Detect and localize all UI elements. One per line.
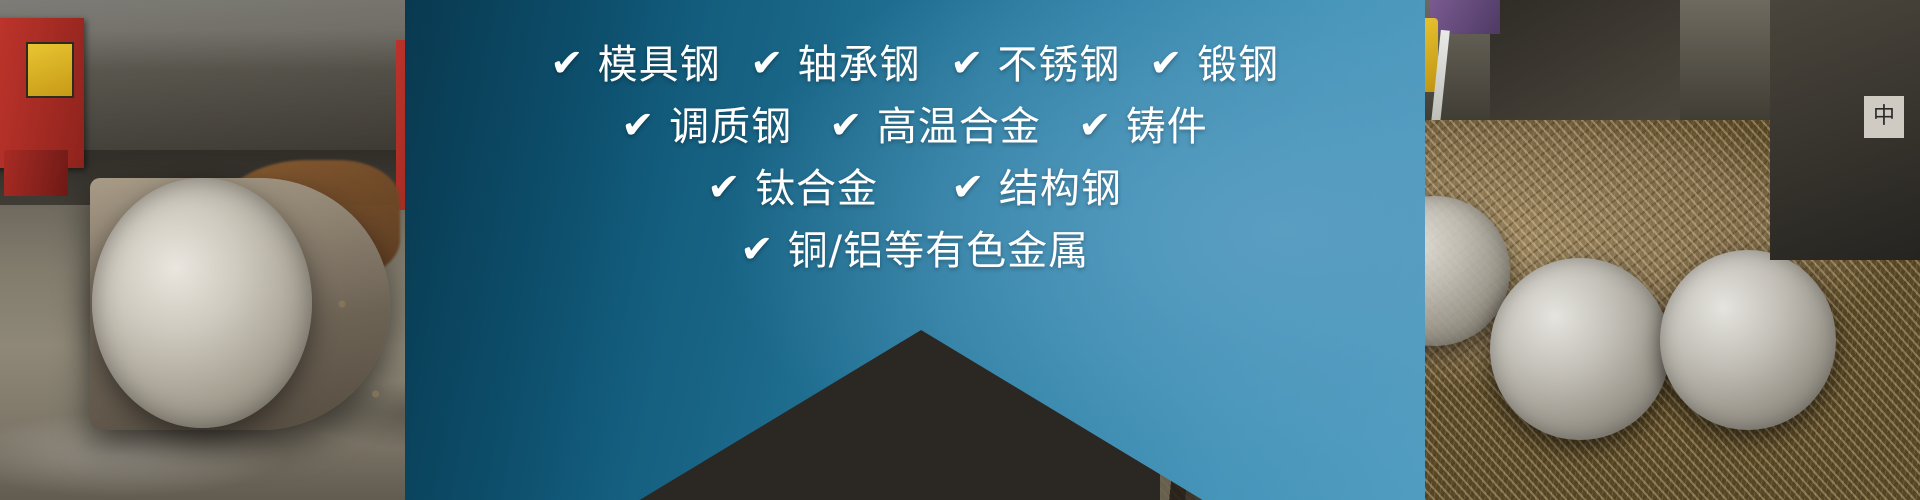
right-photo-machine-body-2 (1490, 0, 1680, 120)
check-icon: ✔ (750, 44, 784, 82)
category-label: 铸件 (1126, 106, 1208, 148)
category-label: 铜/铝等有色金属 (788, 230, 1089, 272)
product-category-list: ✔ 模具钢 ✔ 轴承钢 ✔ 不锈钢 ✔ 锻钢 ✔ 调质钢 ✔ (405, 0, 1425, 500)
category-item-mould-steel[interactable]: ✔ 模具钢 (551, 44, 721, 86)
category-item-forged-steel[interactable]: ✔ 锻钢 (1150, 44, 1279, 86)
category-label: 结构钢 (999, 168, 1122, 210)
check-icon: ✔ (740, 230, 774, 268)
category-item-castings[interactable]: ✔ 铸件 (1079, 106, 1208, 148)
right-photo-sign: 中 (1864, 96, 1904, 138)
right-photo-round-bar (1660, 250, 1836, 430)
category-item-stainless-steel[interactable]: ✔ 不锈钢 (951, 44, 1121, 86)
category-label: 钛合金 (755, 168, 878, 210)
category-label: 不锈钢 (997, 44, 1120, 86)
category-label: 轴承钢 (798, 44, 921, 86)
category-item-structural-steel[interactable]: ✔ 结构钢 (952, 168, 1122, 210)
check-icon: ✔ (950, 44, 984, 82)
category-row-3: ✔ 钛合金 ✔ 结构钢 (708, 168, 1122, 210)
category-label: 调质钢 (669, 106, 792, 148)
left-photo-yellow-control-box (26, 42, 74, 98)
check-icon: ✔ (829, 106, 863, 144)
category-label: 高温合金 (877, 106, 1041, 148)
left-photo-red-machine-base (4, 150, 68, 196)
category-row-2: ✔ 调质钢 ✔ 高温合金 ✔ 铸件 (622, 106, 1208, 148)
category-row-1: ✔ 模具钢 ✔ 轴承钢 ✔ 不锈钢 ✔ 锻钢 (551, 44, 1279, 86)
category-row-4: ✔ 铜/铝等有色金属 (741, 230, 1089, 272)
check-icon: ✔ (550, 44, 584, 82)
category-item-bearing-steel[interactable]: ✔ 轴承钢 (751, 44, 921, 86)
check-icon: ✔ (707, 168, 741, 206)
category-item-quenched-tempered-steel[interactable]: ✔ 调质钢 (622, 106, 792, 148)
check-icon: ✔ (1078, 106, 1112, 144)
category-label: 模具钢 (598, 44, 721, 86)
product-category-banner: 中 ✔ 模具钢 ✔ 轴承钢 ✔ 不锈钢 ✔ 锻钢 ✔ (0, 0, 1920, 500)
category-label: 锻钢 (1197, 44, 1279, 86)
left-photo-billet-machined-face (92, 178, 312, 428)
check-icon: ✔ (1150, 44, 1184, 82)
category-item-copper-aluminium-nonferrous[interactable]: ✔ 铜/铝等有色金属 (741, 230, 1089, 272)
category-item-titanium-alloy[interactable]: ✔ 钛合金 (708, 168, 878, 210)
check-icon: ✔ (621, 106, 655, 144)
right-photo-round-bar (1490, 258, 1670, 440)
check-icon: ✔ (951, 168, 985, 206)
category-item-superalloy[interactable]: ✔ 高温合金 (830, 106, 1041, 148)
